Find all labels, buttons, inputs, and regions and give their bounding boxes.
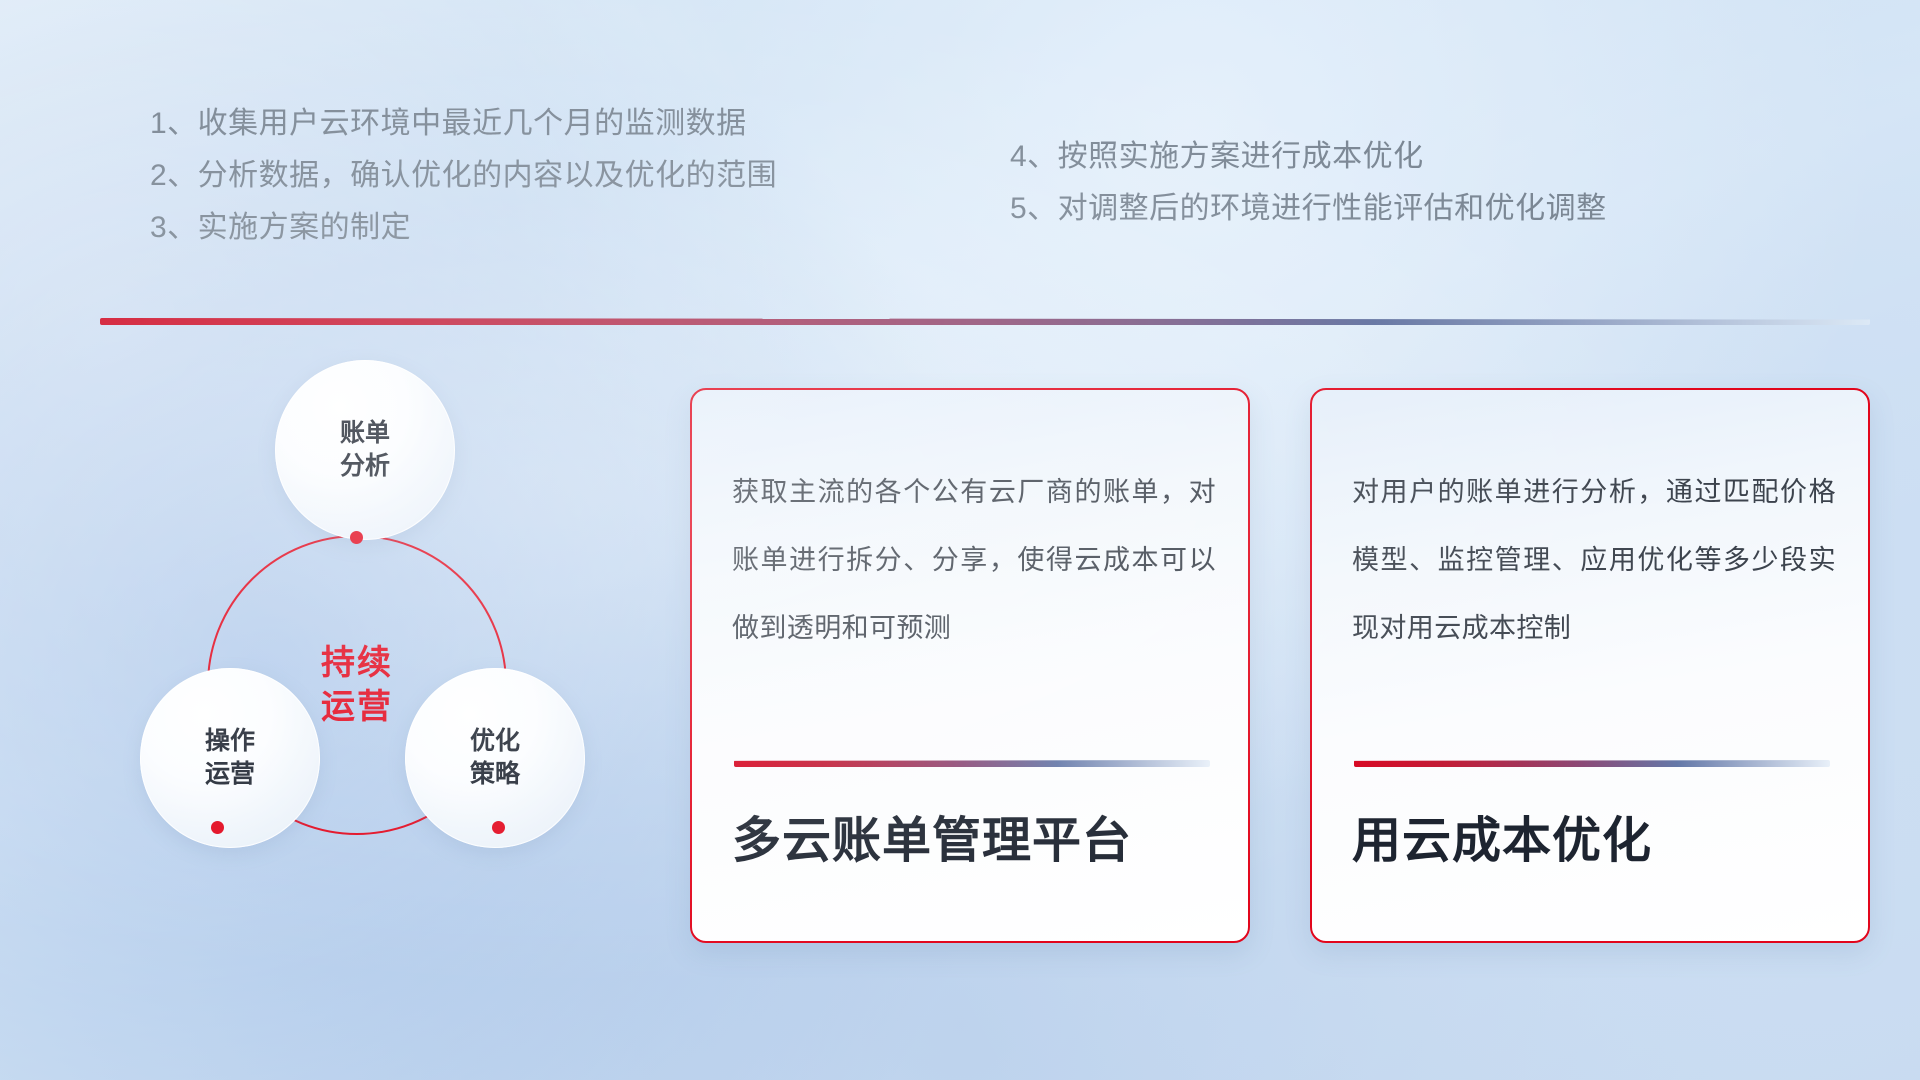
connector-dot-bottom-left-icon bbox=[211, 821, 224, 834]
circle-bill-analysis-label: 账单 分析 bbox=[275, 417, 455, 483]
step-item-2: 2、分析数据，确认优化的内容以及优化的范围 bbox=[150, 150, 777, 202]
card-cloud-cost-optimization[interactable]: 对用户的账单进行分析，通过匹配价格模型、监控管理、应用优化等多少段实现对用云成本… bbox=[1310, 388, 1870, 943]
card-multicloud-billing[interactable]: 获取主流的各个公有云厂商的账单，对账单进行拆分、分享，使得云成本可以做到透明和可… bbox=[690, 388, 1250, 943]
card-cloud-cost-optimization-divider bbox=[1354, 760, 1830, 767]
slide-canvas: 1、收集用户云环境中最近几个月的监测数据 2、分析数据，确认优化的内容以及优化的… bbox=[0, 0, 1920, 1080]
circle-bill-analysis-line1: 账单 bbox=[340, 419, 390, 447]
center-ring-label: 持续 运营 bbox=[207, 535, 507, 835]
section-divider bbox=[100, 318, 1870, 325]
steps-column-left: 1、收集用户云环境中最近几个月的监测数据 2、分析数据，确认优化的内容以及优化的… bbox=[150, 98, 777, 254]
step-item-5: 5、对调整后的环境进行性能评估和优化调整 bbox=[1010, 183, 1607, 235]
step-item-3: 3、实施方案的制定 bbox=[150, 202, 777, 254]
center-ring-line1: 持续 bbox=[321, 644, 393, 682]
card-multicloud-billing-divider bbox=[734, 760, 1210, 767]
connector-dot-bottom-right-icon bbox=[492, 821, 505, 834]
card-cloud-cost-optimization-body: 对用户的账单进行分析，通过匹配价格模型、监控管理、应用优化等多少段实现对用云成本… bbox=[1352, 458, 1836, 662]
steps-column-right: 4、按照实施方案进行成本优化 5、对调整后的环境进行性能评估和优化调整 bbox=[1010, 131, 1607, 235]
card-cloud-cost-optimization-title: 用云成本优化 bbox=[1352, 810, 1836, 872]
card-multicloud-billing-title: 多云账单管理平台 bbox=[732, 810, 1216, 872]
card-multicloud-billing-body: 获取主流的各个公有云厂商的账单，对账单进行拆分、分享，使得云成本可以做到透明和可… bbox=[732, 458, 1216, 662]
circle-bill-analysis[interactable]: 账单 分析 bbox=[275, 360, 455, 540]
center-ring-line2: 运营 bbox=[321, 688, 393, 726]
circle-bill-analysis-line2: 分析 bbox=[340, 452, 390, 480]
step-item-4: 4、按照实施方案进行成本优化 bbox=[1010, 131, 1607, 183]
step-item-1: 1、收集用户云环境中最近几个月的监测数据 bbox=[150, 98, 777, 150]
connector-dot-top-icon bbox=[350, 531, 363, 544]
continuous-operation-diagram: 账单 分析 操作 运营 优化 策略 持续 运营 bbox=[95, 350, 655, 950]
